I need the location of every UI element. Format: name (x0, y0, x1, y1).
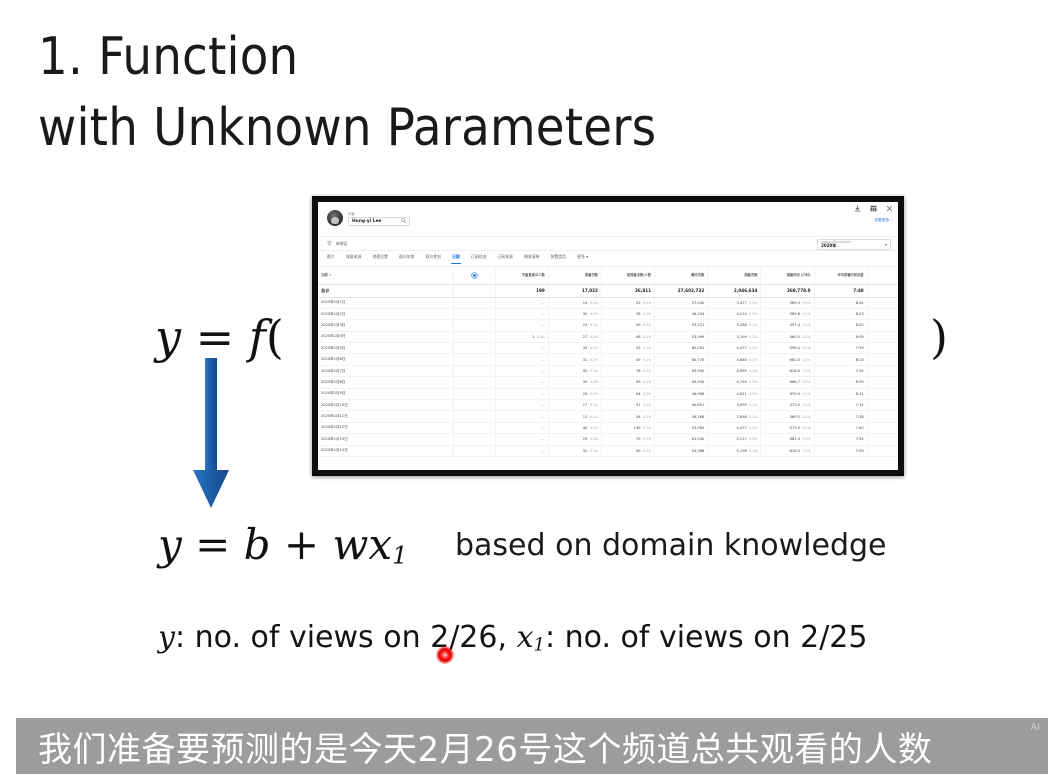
def-x-symbol: x1 (517, 620, 545, 655)
channel-field-label: 作者 (348, 211, 410, 216)
row-spacer (454, 388, 495, 399)
total-value-0: 199 (495, 284, 548, 297)
tab-2[interactable]: 地理位置 (372, 254, 388, 263)
youtube-analytics-screenshot: 查看更多... 作者 Hung-yi Lee 新增区 (312, 196, 904, 476)
row-c2: 350.2% (548, 343, 601, 354)
selected-metric-dot[interactable] (454, 268, 495, 284)
row-spacer (454, 411, 495, 422)
row-spacer (454, 434, 495, 445)
row-c2: 140.1% (548, 297, 601, 308)
row-spacer (454, 422, 495, 433)
subtitle-bar: 我们准备要预测的是今天2月26号这个频道总共观看的人数 AI (16, 718, 1048, 774)
total-value-3: 27,602,732 (655, 284, 708, 297)
eq-bottom-feature-subscript: 1 (392, 540, 408, 569)
row-tail (867, 331, 898, 342)
row-c1: — (495, 400, 548, 411)
row-c3: 580.2% (601, 308, 654, 319)
row-c3: 460.2% (601, 331, 654, 342)
row-spacer (454, 400, 495, 411)
table-row[interactable]: 2020年1月6日—310.2%490.2%60,7704,8800.2%662… (318, 354, 898, 365)
row-c3: 790.3% (601, 434, 654, 445)
def-x-base: x (517, 620, 534, 655)
row-c1: — (495, 434, 548, 445)
eq-bottom-plus: + (284, 520, 319, 569)
row-c6: 569.40.2% (761, 297, 814, 308)
def-x-text: : no. of views on 2/25 (545, 620, 868, 655)
row-c2: 310.2% (548, 354, 601, 365)
row-c4: 61,040 (655, 434, 708, 445)
row-c7: 8:09 (814, 331, 867, 342)
total-value-5: 268,778.0 (761, 284, 814, 297)
row-c2: 300.2% (548, 308, 601, 319)
row-c5: 3,0990.2% (708, 400, 761, 411)
row-c4: 60,001 (655, 343, 708, 354)
row-c6: 668.70.2% (761, 377, 814, 388)
total-tail (867, 284, 898, 297)
channel-meta: 作者 Hung-yi Lee (348, 211, 410, 226)
row-c6: 589.80.2% (761, 308, 814, 319)
close-icon[interactable] (886, 205, 893, 212)
table-row[interactable]: 2020年1月9日—280.2%540.2%56,9884,8110.2%670… (318, 388, 898, 399)
row-c4: 56,988 (655, 388, 708, 399)
table-header-row: 日期 ↓不重复观众人数观看次数曾观看次数/人数曝光次数观看次数观看时间 (小时)… (318, 268, 898, 284)
table-row[interactable]: 2020年1月3日—240.1%490.2%53,5213,2880.2%457… (318, 320, 898, 331)
row-c6: 618.30.2% (761, 445, 814, 456)
row-c1: — (495, 377, 548, 388)
tab-5[interactable]: 日期 (452, 254, 460, 263)
window-controls (854, 205, 893, 212)
row-c1: — (495, 343, 548, 354)
row-c5: 4,4770.2% (708, 422, 761, 433)
row-date: 2020年1月3日 (318, 320, 454, 331)
row-c4: 53,964 (655, 422, 708, 433)
row-c1: — (495, 388, 548, 399)
row-c2: 170.1% (548, 400, 601, 411)
def-y-symbol: y (158, 620, 175, 655)
row-c4: 36,168 (655, 411, 708, 422)
row-c1: — (495, 320, 548, 331)
filter-bar: 新增区 2020/1/1至2020/12/31 2020年 (318, 236, 898, 251)
row-c3: 590.2% (601, 377, 654, 388)
col-header-8[interactable]: 平均观看时间长度 (814, 268, 867, 284)
table-view-icon[interactable] (870, 205, 877, 212)
row-c4: 54,988 (655, 445, 708, 456)
row-c6: 670.90.2% (761, 388, 814, 399)
channel-name-value: Hung-yi Lee (352, 219, 382, 224)
table-row[interactable]: 2020年1月4日10.3%270.2%460.2%53,9993,1990.2… (318, 331, 898, 342)
analytics-table: 日期 ↓不重复观众人数观看次数曾观看次数/人数曝光次数观看次数观看时间 (小时)… (318, 268, 898, 457)
row-c1: 10.3% (495, 331, 548, 342)
row-tail (867, 388, 898, 399)
tab-6[interactable]: 订阅状态 (471, 254, 487, 263)
channel-search-input[interactable]: Hung-yi Lee (348, 217, 410, 226)
tab-1[interactable]: 流量来源 (346, 254, 362, 263)
row-c7: 7:38 (814, 411, 867, 422)
row-c7: 8:09 (814, 377, 867, 388)
row-tail (867, 320, 898, 331)
row-c1: — (495, 411, 548, 422)
row-c7: 8:13 (814, 354, 867, 365)
tab-10[interactable]: 更多 ▾ (577, 254, 588, 263)
row-c3: 490.2% (601, 445, 654, 456)
row-c4: 63,930 (655, 365, 708, 376)
row-date: 2020年1月13日 (318, 434, 454, 445)
def-x-subscript: 1 (534, 635, 545, 656)
analytics-window: 查看更多... 作者 Hung-yi Lee 新增区 (318, 202, 898, 470)
table-row[interactable]: 2020年1月10日—170.1%910.2%40,8013,0990.2%37… (318, 400, 898, 411)
row-c4: 40,801 (655, 400, 708, 411)
tab-8[interactable]: 播放清单 (524, 254, 540, 263)
row-date: 2020年1月1日 (318, 297, 454, 308)
row-c1: — (495, 354, 548, 365)
row-spacer (454, 445, 495, 456)
row-c3: 490.2% (601, 320, 654, 331)
eq-top-equals: = (196, 310, 235, 364)
row-c1: — (495, 297, 548, 308)
row-c4: 53,999 (655, 331, 708, 342)
row-date: 2020年1月6日 (318, 354, 454, 365)
row-tail (867, 354, 898, 365)
row-c2: 400.2% (548, 422, 601, 433)
row-c4: 60,770 (655, 354, 708, 365)
row-tail (867, 297, 898, 308)
table-row[interactable]: 2020年1月1日—140.1%520.2%57,0403,4770.2%569… (318, 297, 898, 308)
row-c6: 681.40.3% (761, 434, 814, 445)
col-header-5[interactable]: 曝光次数 (655, 268, 708, 284)
row-spacer (454, 331, 495, 342)
tab-0[interactable]: 影片 (327, 254, 335, 263)
filter-icon (327, 241, 332, 247)
row-tail (867, 422, 898, 433)
row-c7: 7:39 (814, 343, 867, 354)
row-c7: 7:54 (814, 434, 867, 445)
export-more-link[interactable]: 查看更多... (874, 218, 893, 223)
total-label: 总计 (318, 284, 454, 297)
total-value-1: 17,022 (548, 284, 601, 297)
row-c2: 240.1% (548, 320, 601, 331)
row-c2: 400.2% (548, 365, 601, 376)
row-c7: 8:20 (814, 320, 867, 331)
row-c5: 2,8980.1% (708, 411, 761, 422)
row-tail (867, 343, 898, 354)
eq-bottom-lhs: y (158, 520, 182, 569)
col-header-9[interactable] (867, 268, 898, 284)
row-c4: 59,400 (655, 377, 708, 388)
row-spacer (454, 297, 495, 308)
analytics-tab-bar: 影片流量来源地理位置观众年龄观众性别日期订阅状态订阅来源播放清单装置类型更多 ▾ (318, 251, 898, 267)
channel-selector[interactable]: 作者 Hung-yi Lee (327, 210, 410, 226)
tab-9[interactable]: 装置类型 (551, 254, 567, 263)
row-c7: 7:09 (814, 445, 867, 456)
table-row[interactable]: 2020年1月2日—300.2%580.2%56,2044,2140.2%589… (318, 308, 898, 319)
row-c3: 540.2% (601, 411, 654, 422)
row-c3: 520.2% (601, 297, 654, 308)
add-filter-button[interactable]: 新增区 (327, 241, 348, 247)
col-header-3[interactable]: 观看次数 (548, 268, 601, 284)
down-arrow-icon (188, 358, 234, 510)
row-c2: 390.2% (548, 377, 601, 388)
row-c6: 662.00.2% (761, 354, 814, 365)
tab-4[interactable]: 观众性别 (425, 254, 441, 263)
col-header-6[interactable]: 观看次数 (708, 268, 761, 284)
chevron-down-icon (885, 244, 887, 246)
row-tail (867, 434, 898, 445)
blue-dot-icon (472, 273, 477, 278)
subtitle-text: 我们准备要预测的是今天2月26号这个频道总共观看的人数 (16, 722, 932, 771)
equation-unknown-function: y = f( (155, 310, 284, 364)
table-row[interactable]: 2020年1月5日—350.2%450.2%60,0014,4770.2%596… (318, 343, 898, 354)
row-c5: 3,4770.2% (708, 297, 761, 308)
equation-linear-model: y = b + wx1 (158, 520, 408, 569)
row-c7: 7:40 (814, 422, 867, 433)
row-c3: 490.2% (601, 354, 654, 365)
table-row[interactable]: 2020年1月14日—320.2%490.2%54,9885,1980.1%61… (318, 445, 898, 456)
row-spacer (454, 308, 495, 319)
search-icon (401, 218, 406, 224)
row-tail (867, 445, 898, 456)
eq-top-paren-open: ( (266, 310, 284, 364)
eq-bottom-bias: b (244, 520, 271, 569)
row-c5: 5,1980.1% (708, 445, 761, 456)
row-c4: 53,521 (655, 320, 708, 331)
tab-3[interactable]: 观众年龄 (399, 254, 415, 263)
total-value-2: 26,811 (601, 284, 654, 297)
row-c7: 8:23 (814, 308, 867, 319)
row-c4: 56,204 (655, 308, 708, 319)
table-row[interactable]: 2020年1月13日—290.2%790.3%61,0405,2170.2%68… (318, 434, 898, 445)
table-row[interactable]: 2020年1月7日—400.2%760.3%63,9304,9950.2%618… (318, 365, 898, 376)
col-header-7[interactable]: 观看时间 (小时) (761, 268, 814, 284)
eq-bottom-weight: w (332, 520, 368, 569)
row-c5: 3,2880.2% (708, 320, 761, 331)
col-header-4[interactable]: 曾观看次数/人数 (601, 268, 654, 284)
row-c2: 280.2% (548, 388, 601, 399)
row-c7: 7:14 (814, 400, 867, 411)
row-c7: 8:11 (814, 388, 867, 399)
row-c5: 4,2140.2% (708, 308, 761, 319)
row-c6: 372.00.1% (761, 400, 814, 411)
row-c3: 450.2% (601, 343, 654, 354)
row-c2: 320.2% (548, 445, 601, 456)
row-c1: — (495, 365, 548, 376)
row-date: 2020年1月5日 (318, 343, 454, 354)
row-date: 2020年1月8日 (318, 377, 454, 388)
row-tail (867, 365, 898, 376)
col-header-date[interactable]: 日期 ↓ (318, 268, 454, 284)
row-date: 2020年1月4日 (318, 331, 454, 342)
table-row[interactable]: 2020年1月12日—400.2%1490.7%53,9644,4770.2%5… (318, 422, 898, 433)
row-tail (867, 308, 898, 319)
row-c6: 618.60.2% (761, 365, 814, 376)
row-c2: 120.1% (548, 411, 601, 422)
total-value-6: 7:48 (814, 284, 867, 297)
row-c2: 270.2% (548, 331, 601, 342)
row-c6: 460.50.2% (761, 331, 814, 342)
filter-label: 新增区 (336, 241, 348, 247)
row-date: 2020年1月12日 (318, 422, 454, 433)
row-c6: 457.40.2% (761, 320, 814, 331)
row-spacer (454, 343, 495, 354)
table-body: 总计19917,02226,81127,602,7322,046,634268,… (318, 284, 898, 456)
row-date: 2020年1月14日 (318, 445, 454, 456)
row-spacer (454, 320, 495, 331)
row-c5: 4,4770.2% (708, 343, 761, 354)
row-c5: 4,7950.2% (708, 377, 761, 388)
row-c7: 6:52 (814, 297, 867, 308)
row-c3: 760.3% (601, 365, 654, 376)
row-c2: 290.2% (548, 434, 601, 445)
row-spacer (454, 377, 495, 388)
avatar (327, 210, 343, 226)
page-title: 1. Function with Unknown Parameters (38, 22, 898, 163)
row-c3: 1490.7% (601, 422, 654, 433)
eq-bottom-equals: = (195, 520, 230, 569)
row-c6: 596.40.2% (761, 343, 814, 354)
row-c5: 4,8800.2% (708, 354, 761, 365)
table-row[interactable]: 2020年1月11日—120.1%540.2%36,1682,8980.1%36… (318, 411, 898, 422)
tab-7[interactable]: 订阅来源 (497, 254, 513, 263)
eq-top-paren-close: ) (930, 310, 948, 364)
row-c3: 540.2% (601, 388, 654, 399)
row-c6: 573.90.2% (761, 422, 814, 433)
date-range-value: 2020年 (821, 244, 887, 249)
table-total-row: 总计19917,02226,81127,602,7322,046,634268,… (318, 284, 898, 297)
row-c5: 5,2170.2% (708, 434, 761, 445)
row-date: 2020年1月9日 (318, 388, 454, 399)
row-c5: 4,9950.2% (708, 365, 761, 376)
variable-definitions: y: no. of views on 2/26, x1: no. of view… (158, 620, 867, 656)
def-y-text: : no. of views on 2/26, (175, 620, 507, 655)
row-c1: — (495, 308, 548, 319)
row-tail (867, 377, 898, 388)
row-c1: — (495, 422, 548, 433)
row-c1: — (495, 445, 548, 456)
eq-top-lhs: y (155, 310, 181, 364)
row-date: 2020年1月7日 (318, 365, 454, 376)
domain-knowledge-note: based on domain knowledge (455, 528, 887, 563)
row-c6: 369.50.1% (761, 411, 814, 422)
row-c3: 910.2% (601, 400, 654, 411)
row-spacer (454, 365, 495, 376)
row-date: 2020年1月2日 (318, 308, 454, 319)
row-date: 2020年1月10日 (318, 400, 454, 411)
total-spacer (454, 284, 495, 297)
eq-bottom-feature: x (368, 520, 392, 569)
download-icon[interactable] (854, 205, 861, 212)
row-c7: 7:54 (814, 365, 867, 376)
total-value-4: 2,046,634 (708, 284, 761, 297)
ai-watermark: AI (1031, 722, 1040, 733)
eq-top-fn: f (249, 310, 266, 364)
row-date: 2020年1月11日 (318, 411, 454, 422)
table-row[interactable]: 2020年1月8日—390.2%590.2%59,4004,7950.2%668… (318, 377, 898, 388)
row-tail (867, 400, 898, 411)
row-c5: 3,1990.2% (708, 331, 761, 342)
row-tail (867, 411, 898, 422)
row-c4: 57,040 (655, 297, 708, 308)
row-spacer (454, 354, 495, 365)
row-c5: 4,8110.2% (708, 388, 761, 399)
date-range-selector[interactable]: 2020/1/1至2020/12/31 2020年 (817, 239, 891, 250)
col-header-2[interactable]: 不重复观众人数 (495, 268, 548, 284)
